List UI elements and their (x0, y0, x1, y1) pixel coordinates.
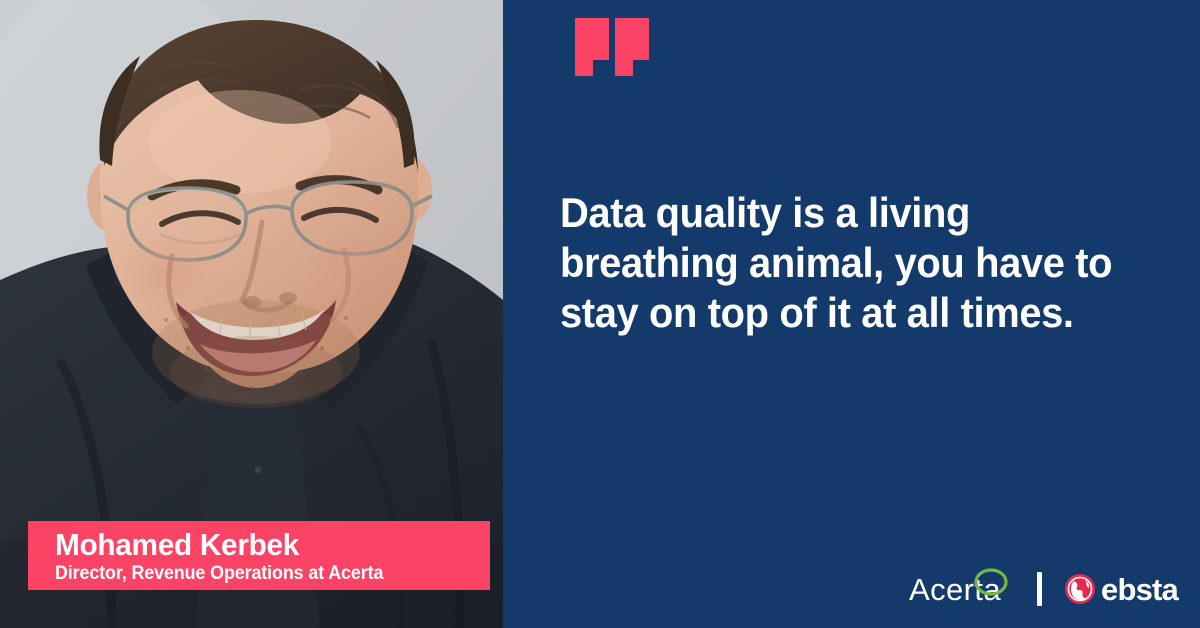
svg-text:Acerta: Acerta (909, 572, 1001, 607)
footer-logo-row: Acerta ebsta (909, 566, 1178, 612)
globe-icon (1064, 573, 1096, 605)
quote-card: Mohamed Kerbek Director, Revenue Operati… (0, 0, 1200, 628)
ebsta-wordmark: ebsta (1101, 574, 1178, 605)
speaker-name-badge: Mohamed Kerbek Director, Revenue Operati… (28, 521, 490, 590)
quotation-mark-icon (563, 12, 653, 82)
acerta-logo[interactable]: Acerta (909, 566, 1017, 612)
logo-divider (1037, 572, 1042, 606)
quote-panel: Data quality is a living breathing anima… (503, 0, 1200, 628)
quote-text: Data quality is a living breathing anima… (560, 188, 1154, 338)
ebsta-logo[interactable]: ebsta (1064, 566, 1178, 612)
speaker-role: Director, Revenue Operations at Acerta (55, 562, 464, 586)
speaker-name: Mohamed Kerbek (55, 528, 473, 562)
